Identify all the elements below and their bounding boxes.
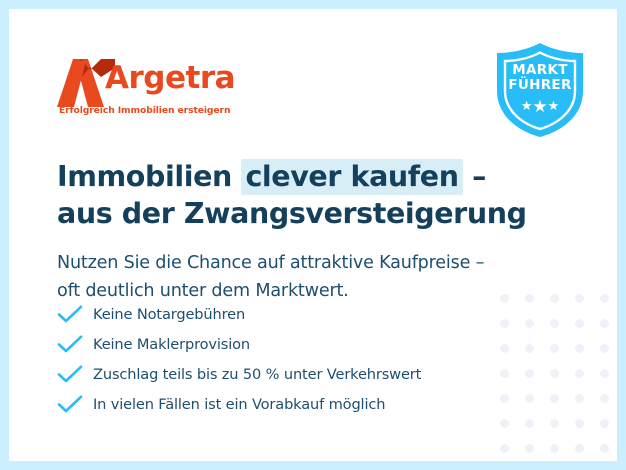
list-item: Keine Maklerprovision (57, 329, 527, 359)
subheadline-line-1: Nutzen Sie die Chance auf attraktive Kau… (57, 249, 577, 277)
dot (550, 394, 559, 403)
dot (600, 319, 609, 328)
dot (575, 394, 584, 403)
markt-fuehrer-badge: MARKT FÜHRER ★★★ (491, 41, 589, 139)
benefits-list: Keine Notargebühren Keine Maklerprovisio… (57, 299, 527, 419)
list-item-label: Keine Maklerprovision (93, 336, 250, 353)
dot (550, 444, 559, 453)
check-icon (57, 395, 83, 413)
headline-line-2: aus der Zwangsversteigerung (57, 195, 557, 232)
dot (500, 419, 509, 428)
dot (575, 369, 584, 378)
dot (575, 419, 584, 428)
dot (550, 344, 559, 353)
dot (550, 369, 559, 378)
dot (550, 419, 559, 428)
argetra-logo[interactable]: Argetra Erfolgreich Immobilien ersteiger… (57, 51, 257, 119)
dot (600, 394, 609, 403)
check-icon (57, 365, 83, 383)
logo-wordmark: Argetra (105, 63, 235, 94)
dot (600, 419, 609, 428)
dot (600, 344, 609, 353)
list-item: In vielen Fällen ist ein Vorabkauf mögli… (57, 389, 527, 419)
dot (600, 369, 609, 378)
headline-text-after: – (463, 160, 486, 193)
banner-canvas: Argetra Erfolgreich Immobilien ersteiger… (9, 9, 617, 461)
shield-badge-icon (491, 41, 589, 139)
list-item-label: Zuschlag teils bis zu 50 % unter Verkehr… (93, 366, 421, 383)
list-item-label: Keine Notargebühren (93, 306, 245, 323)
promo-banner: Argetra Erfolgreich Immobilien ersteiger… (0, 0, 626, 470)
dot (600, 444, 609, 453)
dot (525, 419, 534, 428)
dot (575, 344, 584, 353)
check-icon (57, 335, 83, 353)
headline-line-1: Immobilien clever kaufen – (57, 158, 557, 195)
dot (600, 294, 609, 303)
dot (500, 444, 509, 453)
dot (575, 444, 584, 453)
headline: Immobilien clever kaufen – aus der Zwang… (57, 158, 557, 232)
list-item: Zuschlag teils bis zu 50 % unter Verkehr… (57, 359, 527, 389)
subheadline: Nutzen Sie die Chance auf attraktive Kau… (57, 249, 577, 305)
dot (575, 319, 584, 328)
headline-text-before: Immobilien (57, 160, 241, 193)
headline-highlight: clever kaufen (241, 159, 462, 195)
dot (550, 319, 559, 328)
list-item: Keine Notargebühren (57, 299, 527, 329)
check-icon (57, 305, 83, 323)
logo-tagline: Erfolgreich Immobilien ersteigern (59, 105, 230, 116)
dot (525, 444, 534, 453)
list-item-label: In vielen Fällen ist ein Vorabkauf mögli… (93, 396, 385, 413)
